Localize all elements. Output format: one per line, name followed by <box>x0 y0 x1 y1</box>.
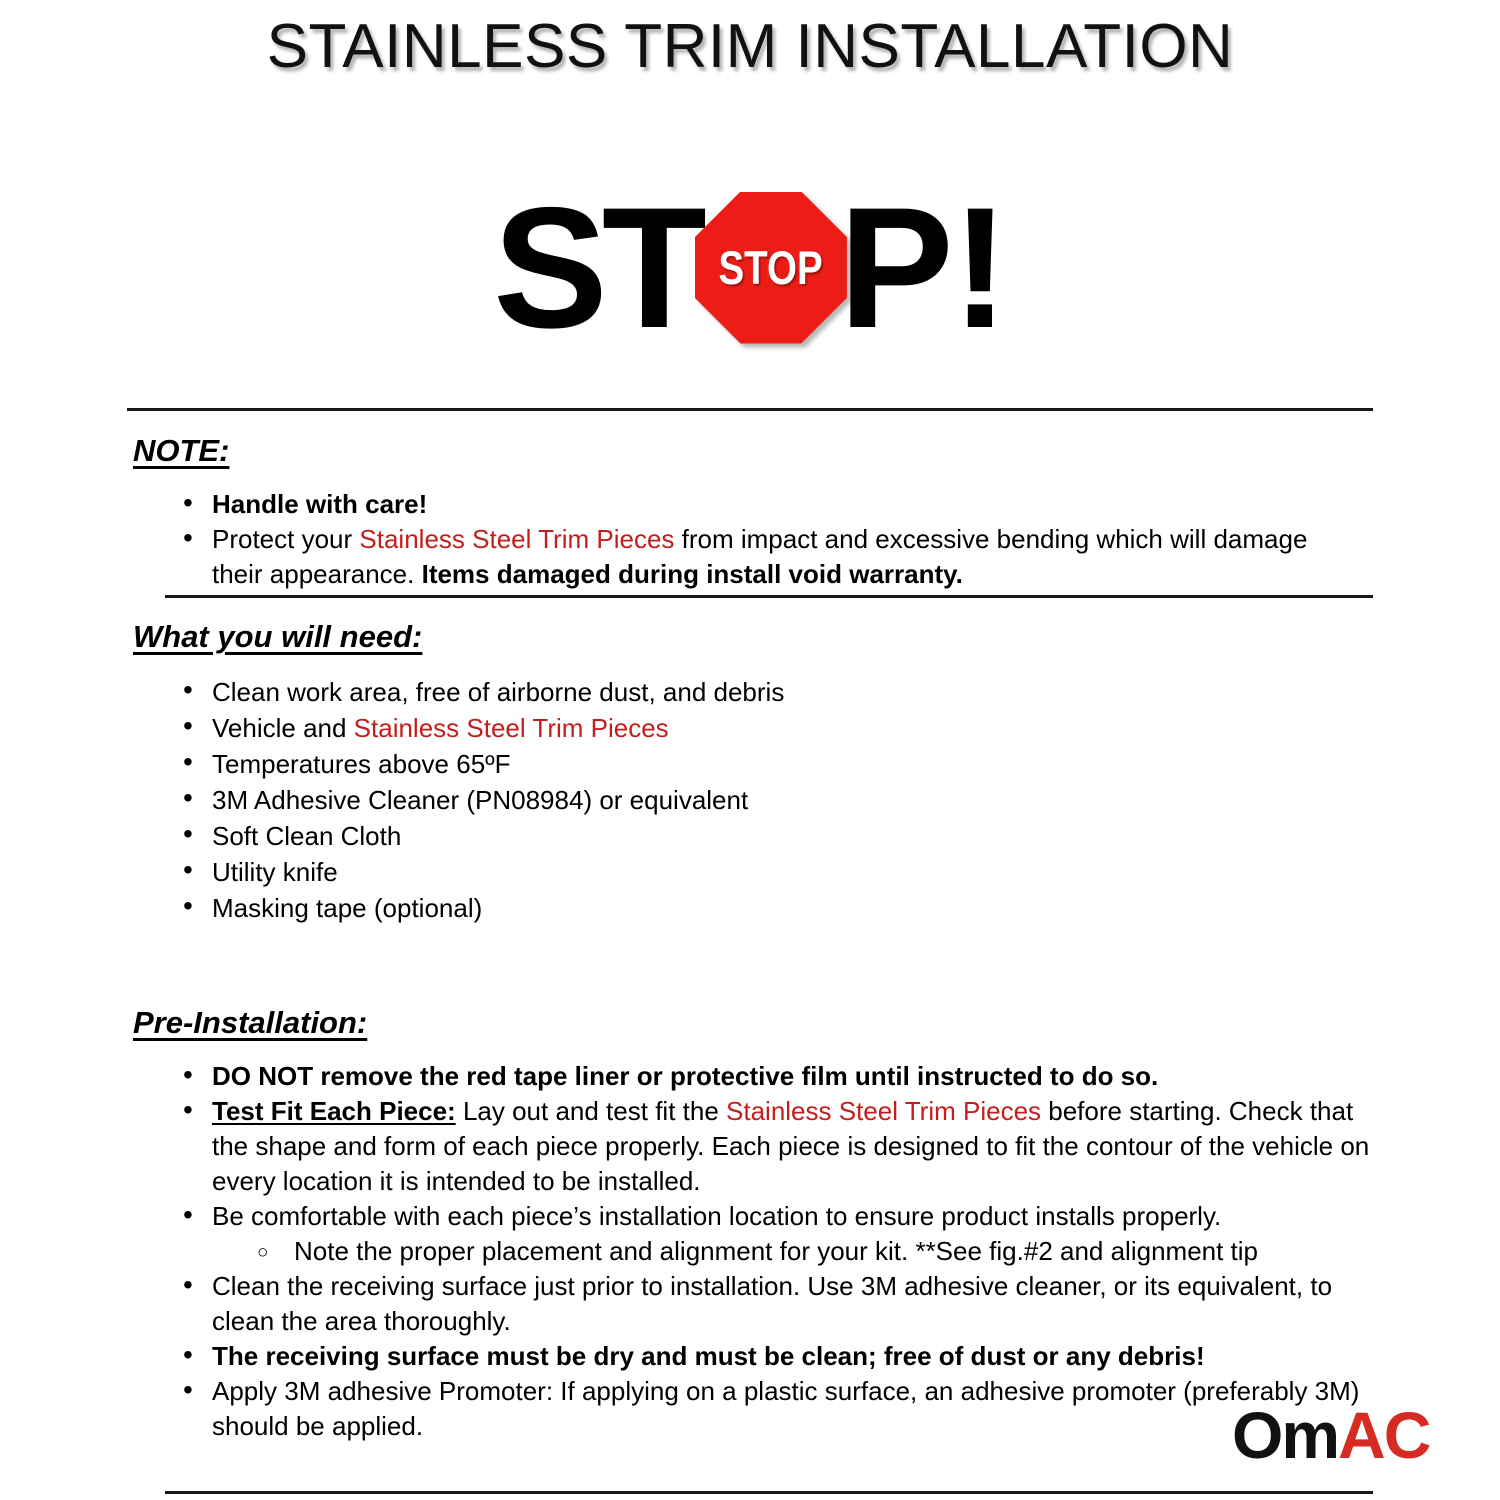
text-run: Utility knife <box>212 857 338 887</box>
octagon-label: STOP <box>719 244 823 291</box>
text-run: Handle with care! <box>212 489 427 519</box>
list-item: Masking tape (optional) <box>179 890 1359 926</box>
need-list: Clean work area, free of airborne dust, … <box>179 674 1359 926</box>
list-item: Soft Clean Cloth <box>179 818 1359 854</box>
heading-note: NOTE: <box>133 433 229 469</box>
list-item: Vehicle and Stainless Steel Trim Pieces <box>179 710 1359 746</box>
list-item: The receiving surface must be dry and mu… <box>179 1339 1379 1374</box>
omac-logo: OmAC <box>1232 1399 1472 1471</box>
list-item: Test Fit Each Piece: Lay out and test fi… <box>179 1094 1379 1199</box>
page-title: STAINLESS TRIM INSTALLATION <box>0 8 1500 86</box>
highlighted-term: Stainless Steel Trim Pieces <box>354 713 669 743</box>
text-run: Vehicle and <box>212 713 354 743</box>
highlighted-term: Stainless Steel Trim Pieces <box>359 524 674 554</box>
omac-logo-black-text: Om <box>1232 1398 1338 1472</box>
stop-right-letters: P! <box>839 182 1007 354</box>
text-run: 3M Adhesive Cleaner (PN08984) or equival… <box>212 785 748 815</box>
list-item: Utility knife <box>179 854 1359 890</box>
heading-pre-installation: Pre-Installation: <box>133 1005 367 1041</box>
stop-sign-icon: STOP <box>695 192 847 344</box>
stop-wordmark: ST STOP P! <box>493 182 1007 354</box>
text-run: Masking tape (optional) <box>212 893 482 923</box>
heading-what-you-will-need: What you will need: <box>133 619 422 655</box>
text-run: Items damaged during install void warran… <box>422 559 963 589</box>
text-run: Note the proper placement and alignment … <box>294 1236 1258 1266</box>
list-item: Temperatures above 65ºF <box>179 746 1359 782</box>
text-run: The receiving surface must be dry and mu… <box>212 1341 1205 1371</box>
text-run: Be comfortable with each piece’s install… <box>212 1201 1221 1231</box>
text-run: Temperatures above 65ºF <box>212 749 511 779</box>
stop-graphic: ST STOP P! <box>0 170 1500 365</box>
divider-bottom <box>165 1491 1373 1494</box>
list-item: Handle with care! <box>179 487 1359 522</box>
divider-note <box>165 595 1373 598</box>
list-item: 3M Adhesive Cleaner (PN08984) or equival… <box>179 782 1359 818</box>
note-list: Handle with care!Protect your Stainless … <box>179 487 1359 592</box>
list-item: DO NOT remove the red tape liner or prot… <box>179 1059 1379 1094</box>
text-run: DO NOT remove the red tape liner or prot… <box>212 1061 1158 1091</box>
pre-installation-list: DO NOT remove the red tape liner or prot… <box>179 1059 1379 1444</box>
text-run: Lay out and test fit the <box>456 1096 726 1126</box>
list-item: Apply 3M adhesive Promoter: If applying … <box>179 1374 1379 1444</box>
text-run: Clean the receiving surface just prior t… <box>212 1271 1332 1336</box>
text-run: Clean work area, free of airborne dust, … <box>212 677 784 707</box>
sub-list-item: Note the proper placement and alignment … <box>179 1234 1379 1269</box>
text-run: Protect your <box>212 524 359 554</box>
stop-left-letters: ST <box>493 182 701 354</box>
text-run: Test Fit Each Piece: <box>212 1096 456 1126</box>
octagon-shape: STOP <box>695 192 847 344</box>
list-item: Clean the receiving surface just prior t… <box>179 1269 1379 1339</box>
list-item: Protect your Stainless Steel Trim Pieces… <box>179 522 1359 592</box>
list-item: Be comfortable with each piece’s install… <box>179 1199 1379 1234</box>
highlighted-term: Stainless Steel Trim Pieces <box>726 1096 1041 1126</box>
text-run: Apply 3M adhesive Promoter: If applying … <box>212 1376 1359 1441</box>
text-run: Soft Clean Cloth <box>212 821 401 851</box>
omac-logo-red-text: AC <box>1338 1398 1429 1472</box>
divider-top <box>127 408 1373 411</box>
list-item: Clean work area, free of airborne dust, … <box>179 674 1359 710</box>
